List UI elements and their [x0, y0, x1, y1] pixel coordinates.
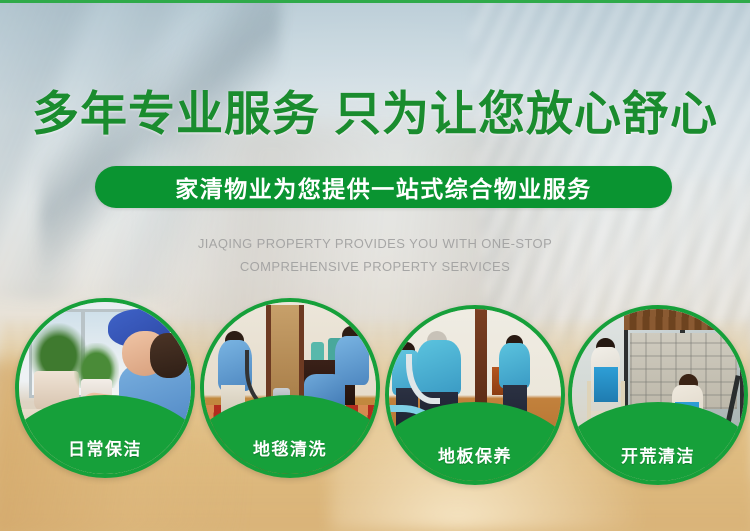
english-subtitle-line-2: COMPREHENSIVE PROPERTY SERVICES	[0, 255, 750, 278]
service-label-daily-cleaning: 日常保洁	[19, 435, 191, 460]
service-item-carpet-cleaning[interactable]: 地毯清洗	[200, 298, 380, 478]
service-label-floor-maintenance: 地板保养	[389, 442, 561, 467]
top-accent-rule	[0, 0, 750, 3]
tagline-text: 家清物业为您提供一站式综合物业服务	[175, 170, 592, 204]
service-label-post-construction-cleaning: 开荒清洁	[572, 442, 744, 467]
service-item-floor-maintenance[interactable]: 地板保养	[385, 305, 565, 485]
service-item-post-construction-cleaning[interactable]: 开荒清洁	[568, 305, 748, 485]
service-label-carpet-cleaning: 地毯清洗	[204, 435, 376, 460]
promotional-banner: 多年专业服务 只为让您放心舒心 家清物业为您提供一站式综合物业服务 JIAQIN…	[0, 0, 750, 531]
service-item-daily-cleaning[interactable]: 日常保洁	[15, 298, 195, 478]
tagline-pill: 家清物业为您提供一站式综合物业服务	[95, 166, 672, 208]
english-subtitle: JIAQING PROPERTY PROVIDES YOU WITH ONE-S…	[0, 232, 750, 278]
english-subtitle-line-1: JIAQING PROPERTY PROVIDES YOU WITH ONE-S…	[0, 232, 750, 255]
headline: 多年专业服务 只为让您放心舒心	[0, 86, 750, 142]
